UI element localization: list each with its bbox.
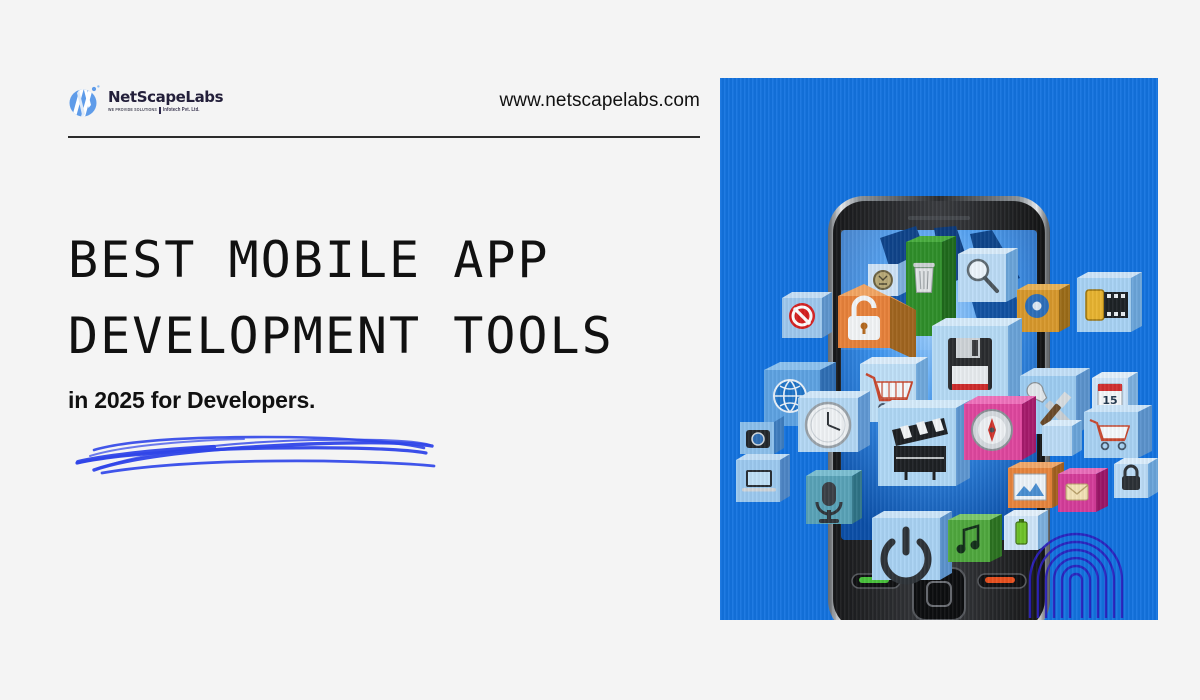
floppy-disk-icon — [932, 318, 1022, 402]
headline-line-2: DEVELOPMENT TOOLS — [68, 298, 708, 374]
smartphone-3d-render-icon: 15 — [720, 78, 1158, 620]
mail-icon — [1058, 468, 1108, 512]
brand-tagline-secondary: Infotech Pvt. Ltd. — [163, 108, 200, 113]
clapperboard-icon — [878, 400, 970, 486]
subheadline: in 2025 for Developers. — [68, 387, 315, 414]
camera-icon — [740, 416, 784, 454]
music-note-icon — [948, 514, 1002, 562]
headline-block: BEST MOBILE APP DEVELOPMENT TOOLS — [68, 222, 708, 374]
battery-icon — [1004, 510, 1048, 550]
laptop-icon — [736, 454, 790, 502]
microphone-icon — [806, 470, 862, 524]
blank-cube — [1042, 420, 1082, 456]
compass-icon — [964, 396, 1036, 460]
cart-icon-top — [1084, 405, 1152, 458]
brand-tagline: WE PROVIDE SOLUTIONS — [108, 108, 157, 112]
disc-icon — [1017, 284, 1070, 332]
brand-logo[interactable]: NetScapeLabs WE PROVIDE SOLUTIONS Infote… — [68, 84, 223, 120]
tagline-divider-bar — [159, 107, 161, 114]
brand-tagline-row: WE PROVIDE SOLUTIONS Infotech Pvt. Ltd. — [108, 107, 223, 114]
page-header: NetScapeLabs WE PROVIDE SOLUTIONS Infote… — [68, 84, 700, 140]
app-icon-cubes: 15 — [736, 226, 1158, 581]
brand-logo-text: NetScapeLabs WE PROVIDE SOLUTIONS Infote… — [108, 90, 223, 114]
hero-illustration: 15 — [720, 78, 1158, 620]
picture-icon — [1008, 462, 1064, 508]
brand-wordmark: NetScapeLabs — [108, 90, 223, 105]
header-divider — [68, 136, 700, 138]
site-url[interactable]: www.netscapelabs.com — [499, 90, 700, 112]
headline-line-1: BEST MOBILE APP — [68, 222, 708, 298]
power-icon — [872, 511, 952, 581]
netscapelabs-circle-logo-icon — [68, 84, 102, 120]
no-entry-icon — [782, 292, 832, 338]
search-icon — [958, 248, 1018, 302]
lock-closed-icon — [1114, 458, 1158, 498]
clock-face-icon — [798, 391, 870, 452]
film-roll-icon — [1077, 272, 1142, 332]
hand-drawn-scribble-underline-icon — [64, 428, 444, 484]
